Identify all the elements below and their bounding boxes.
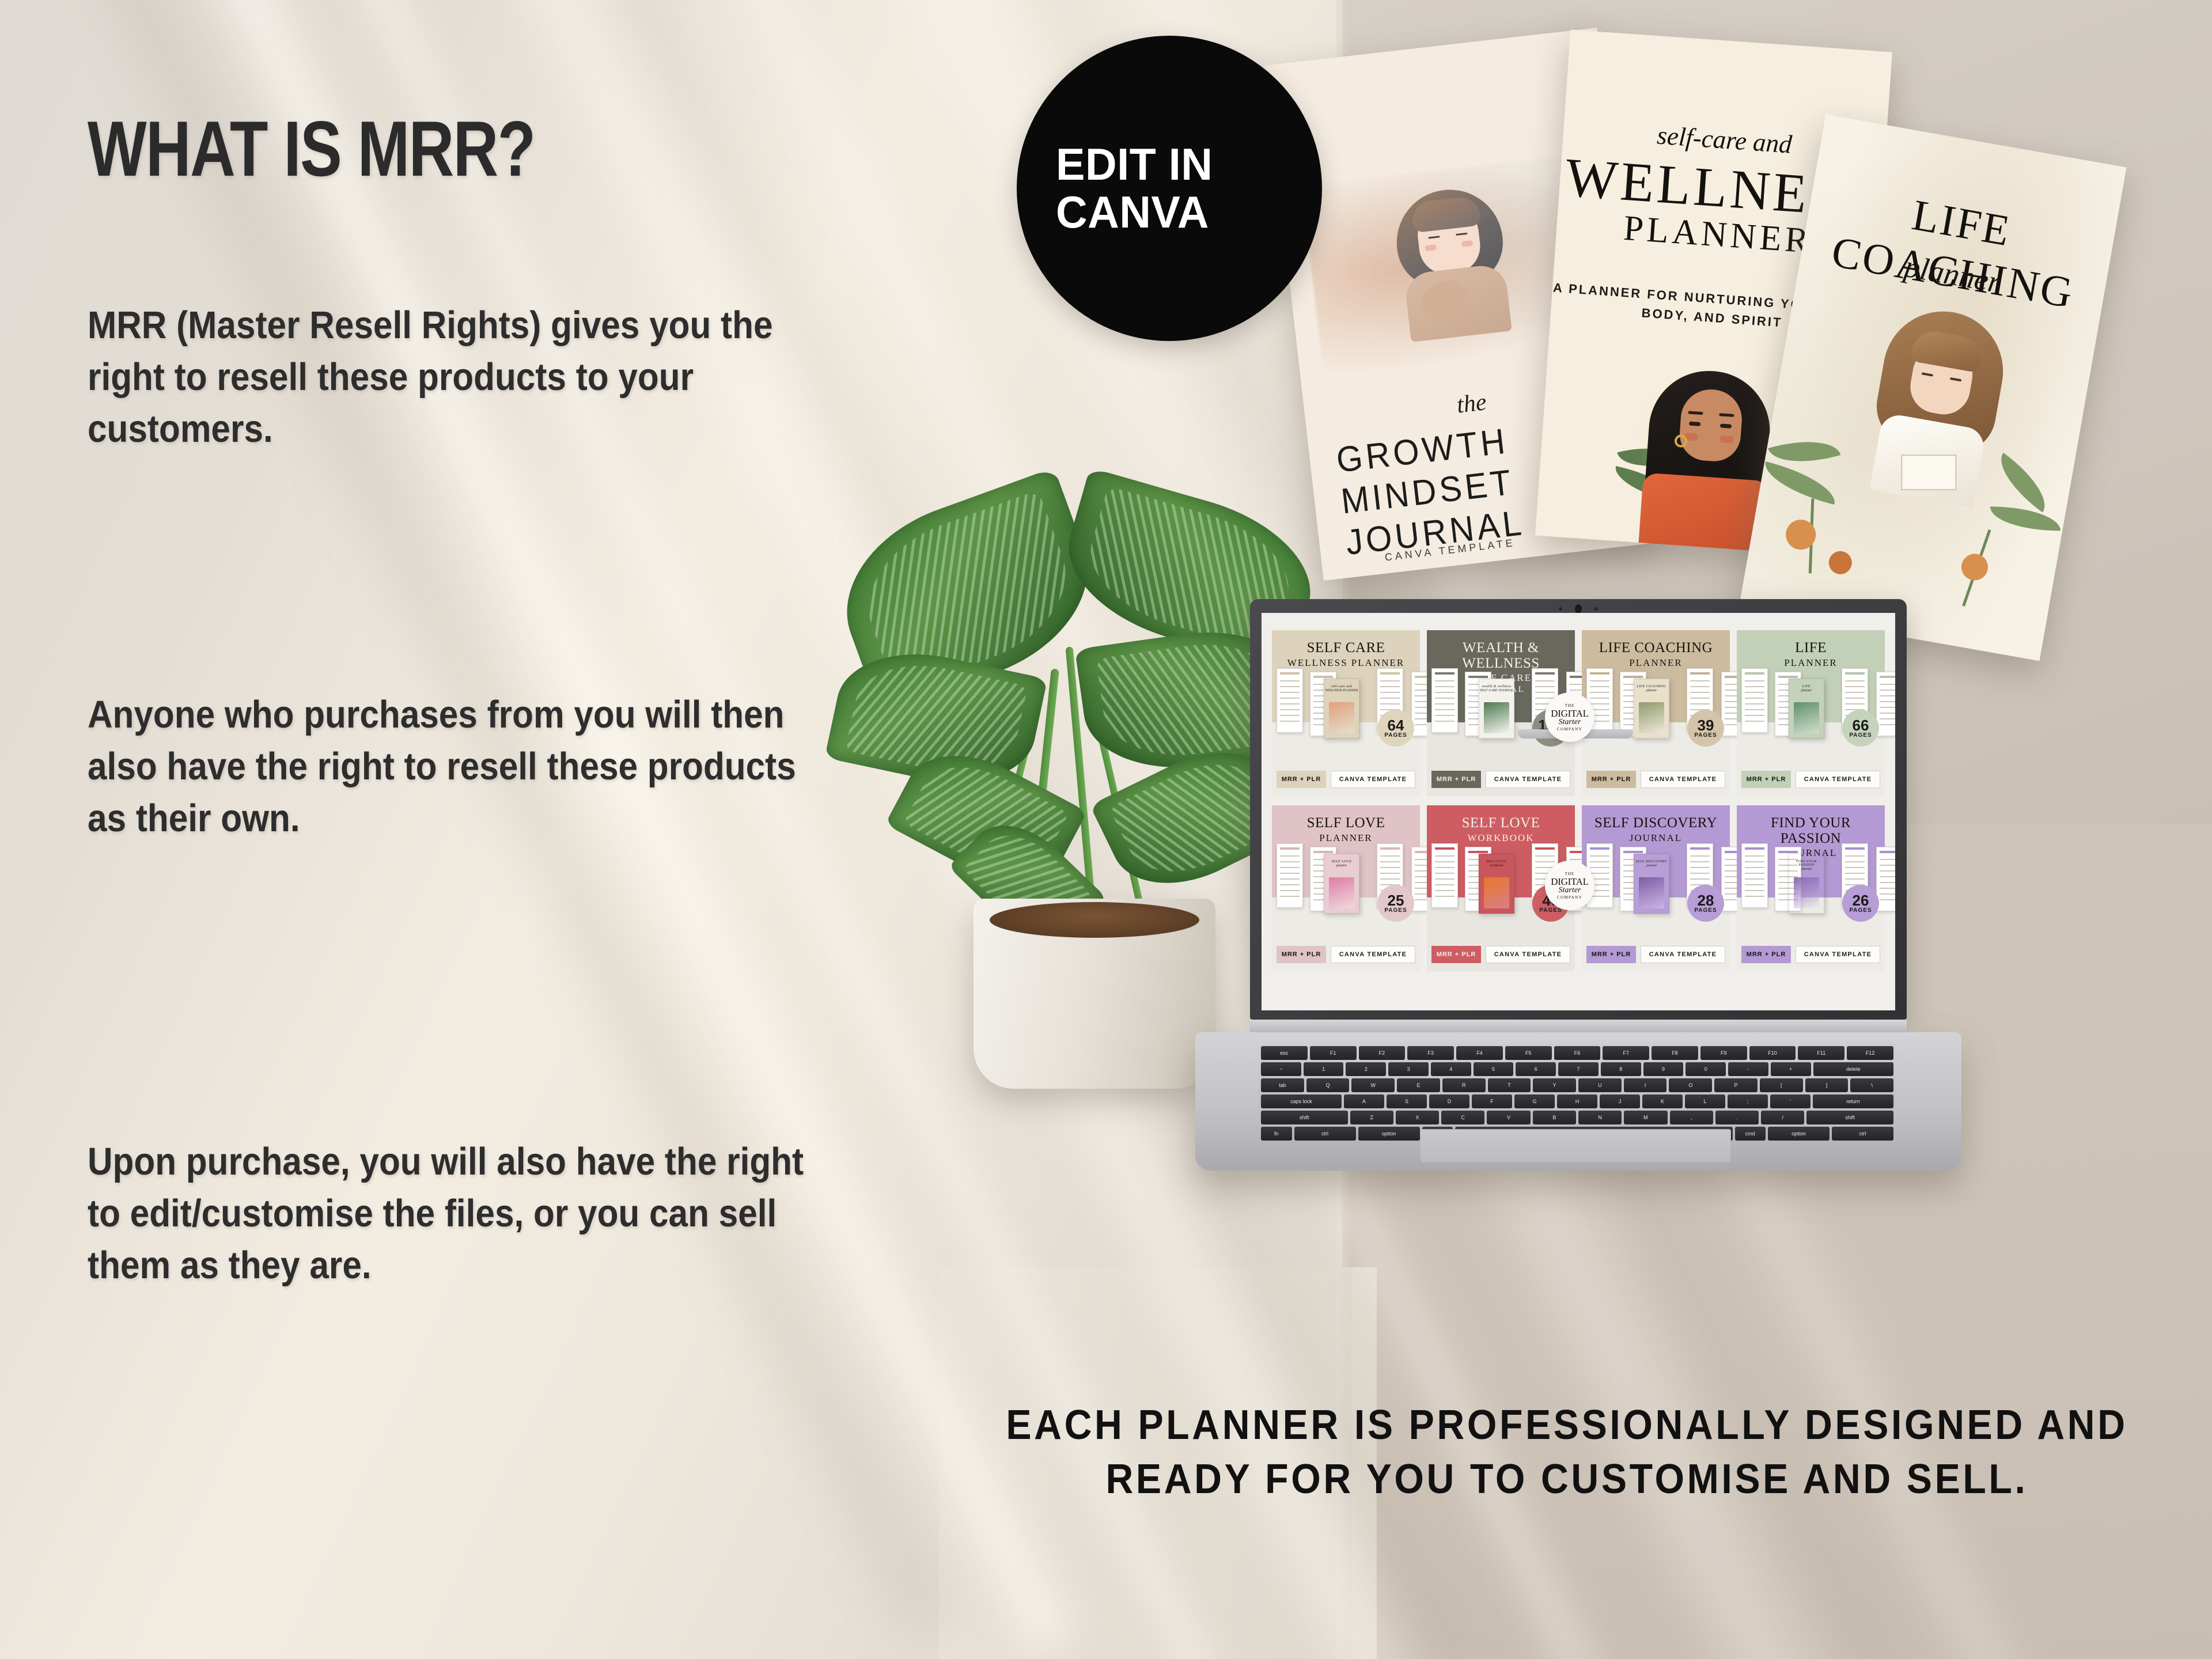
- key-f8[interactable]: F8: [1652, 1046, 1698, 1060]
- product-title: LIFE COACHING: [1586, 641, 1725, 656]
- key-a[interactable]: A: [1344, 1094, 1384, 1108]
- key-esc[interactable]: esc: [1261, 1046, 1308, 1060]
- laptop-lid: SELF CAREWELLNESS PLANNERself-care andWE…: [1250, 599, 1907, 1020]
- sensor-icon: [1559, 607, 1562, 611]
- logo-company: COMPANY: [1557, 895, 1582, 900]
- product-title: SELF CARE: [1277, 641, 1415, 656]
- edit-in-canva-badge[interactable]: EDIT IN CANVA: [1017, 36, 1322, 341]
- key--[interactable]: ~: [1261, 1062, 1301, 1076]
- product-mini-cover: SELF LOVEplanner: [1324, 854, 1359, 914]
- product-subtitle: WELLNESS PLANNER: [1277, 658, 1415, 669]
- key-f11[interactable]: F11: [1798, 1046, 1844, 1060]
- key-h[interactable]: H: [1557, 1094, 1597, 1108]
- mini-cover-sub: journal: [1646, 864, 1657, 868]
- badge-line-1: EDIT IN: [1056, 141, 1314, 188]
- key-x[interactable]: X: [1396, 1111, 1439, 1124]
- page-count-label: PAGES: [1694, 733, 1717, 738]
- mini-cover-image: [1484, 702, 1509, 733]
- tag-mrr-plr[interactable]: MRR + PLR: [1586, 946, 1636, 963]
- keyboard-row: ~1234567890-+delete: [1261, 1062, 1893, 1076]
- key-j[interactable]: J: [1600, 1094, 1640, 1108]
- key-n[interactable]: N: [1578, 1111, 1622, 1124]
- key-f7[interactable]: F7: [1603, 1046, 1649, 1060]
- keyboard-row: shiftZXCVBNM,./shift: [1261, 1111, 1893, 1124]
- key-return[interactable]: return: [1813, 1094, 1893, 1108]
- key-1[interactable]: 1: [1304, 1062, 1344, 1076]
- key-z[interactable]: Z: [1350, 1111, 1393, 1124]
- key-e[interactable]: E: [1397, 1078, 1440, 1092]
- mini-cover-title: SELF DISCOVERY: [1635, 860, 1667, 863]
- mini-cover-sub: planner: [1336, 864, 1347, 868]
- mini-cover-sub: planner: [1646, 689, 1657, 692]
- keyboard-row: caps lockASDFGHJKL;'return: [1261, 1094, 1893, 1108]
- body-paragraph-1: MRR (Master Resell Rights) gives you the…: [88, 300, 824, 454]
- tag-mrr-plr[interactable]: MRR + PLR: [1431, 946, 1481, 963]
- product-title: LIFE: [1741, 641, 1880, 656]
- page-thumbnail: [1431, 843, 1458, 908]
- mini-cover-image: [1794, 877, 1819, 908]
- mini-cover-image: [1794, 702, 1819, 733]
- page-count-value: 66: [1853, 718, 1869, 733]
- key--[interactable]: .: [1715, 1111, 1759, 1124]
- tag-canva-template[interactable]: CANVA TEMPLATE: [1486, 771, 1570, 788]
- laptop-keyboard[interactable]: escF1F2F3F4F5F6F7F8F9F10F11F12~123456789…: [1257, 1043, 1897, 1123]
- product-mini-cover: LIFEplanner: [1789, 679, 1824, 738]
- product-tags: MRR + PLRCANVA TEMPLATE: [1586, 771, 1725, 788]
- tag-canva-template[interactable]: CANVA TEMPLATE: [1796, 946, 1880, 963]
- key-o[interactable]: O: [1669, 1078, 1712, 1092]
- mini-cover-title: wealth & wellness: [1482, 685, 1511, 688]
- illustration-woman: [1842, 298, 2028, 513]
- product-title: SELF DISCOVERY: [1586, 816, 1725, 831]
- key-tab[interactable]: tab: [1261, 1078, 1304, 1092]
- product-tags: MRR + PLRCANVA TEMPLATE: [1277, 946, 1415, 963]
- logo-company: COMPANY: [1557, 727, 1582, 732]
- key-k[interactable]: K: [1642, 1094, 1683, 1108]
- page-thumbnail: [1741, 668, 1768, 733]
- page-count-label: PAGES: [1539, 908, 1562, 914]
- product-title: SELF LOVE: [1431, 816, 1570, 831]
- page-thumbnail: [1277, 843, 1303, 908]
- mini-cover-image: [1329, 702, 1354, 733]
- product-mini-cover: SELF LOVEworkbook: [1479, 854, 1514, 914]
- product-subtitle: WORKBOOK: [1431, 833, 1570, 844]
- key-f[interactable]: F: [1472, 1094, 1512, 1108]
- key-f6[interactable]: F6: [1554, 1046, 1601, 1060]
- key-caps-lock[interactable]: caps lock: [1261, 1094, 1342, 1108]
- mini-cover-sub: SELF-CARE JOURNAL: [1480, 689, 1513, 692]
- sensor-icon: [1594, 607, 1598, 611]
- key--[interactable]: /: [1761, 1111, 1804, 1124]
- key-ctrl[interactable]: ctrl: [1832, 1127, 1893, 1141]
- key-fn[interactable]: fn: [1261, 1127, 1292, 1141]
- tag-canva-template[interactable]: CANVA TEMPLATE: [1641, 946, 1725, 963]
- product-tags: MRR + PLRCANVA TEMPLATE: [1277, 771, 1415, 788]
- bottom-caption: EACH PLANNER IS PROFESSIONALLY DESIGNED …: [974, 1399, 2161, 1506]
- tag-mrr-plr[interactable]: MRR + PLR: [1277, 771, 1326, 788]
- product-subtitle: PLANNER: [1586, 658, 1725, 669]
- key-f9[interactable]: F9: [1700, 1046, 1747, 1060]
- page-count-label: PAGES: [1694, 908, 1717, 914]
- key--[interactable]: -: [1728, 1062, 1768, 1076]
- page-thumbnail: [1431, 668, 1458, 733]
- product-title: SELF LOVE: [1277, 816, 1415, 831]
- body-paragraph-3: Upon purchase, you will also have the ri…: [88, 1136, 824, 1291]
- product-card[interactable]: LIFE COACHINGPLANNERLIFE COACHINGplanner…: [1582, 630, 1730, 796]
- page-count-value: 28: [1698, 893, 1714, 908]
- key-ctrl[interactable]: ctrl: [1294, 1127, 1356, 1141]
- tag-mrr-plr[interactable]: MRR + PLR: [1741, 946, 1791, 963]
- product-mockup: LIFEplanner66PAGES: [1740, 668, 1881, 749]
- tag-mrr-plr[interactable]: MRR + PLR: [1741, 771, 1791, 788]
- key--[interactable]: [: [1760, 1078, 1803, 1092]
- key-b[interactable]: B: [1533, 1111, 1576, 1124]
- product-tags: MRR + PLRCANVA TEMPLATE: [1431, 771, 1570, 788]
- page-count-badge: 66PAGES: [1842, 710, 1879, 747]
- key-f1[interactable]: F1: [1310, 1046, 1357, 1060]
- product-mini-cover: LIFE COACHINGplanner: [1634, 679, 1669, 738]
- mini-cover-sub: planner: [1801, 689, 1812, 692]
- webcam-icon: [1575, 604, 1582, 613]
- page-thumbnail: [1741, 843, 1768, 908]
- page-count-label: PAGES: [1849, 733, 1872, 738]
- product-title: WEALTH & WELLNESS: [1431, 641, 1570, 671]
- laptop-base: escF1F2F3F4F5F6F7F8F9F10F11F12~123456789…: [1195, 1032, 1961, 1171]
- page-count-badge: 28PAGES: [1687, 885, 1724, 922]
- key-cmd[interactable]: cmd: [1735, 1127, 1766, 1141]
- mini-cover-sub: workbook: [1490, 864, 1503, 868]
- key-option[interactable]: option: [1768, 1127, 1830, 1141]
- laptop-screen: SELF CAREWELLNESS PLANNERself-care andWE…: [1262, 613, 1895, 1010]
- key--[interactable]: \: [1850, 1078, 1893, 1092]
- product-mockup: self-care andWELLNESS PLANNER64PAGES: [1275, 668, 1416, 749]
- product-title: FIND YOUR PASSION: [1741, 816, 1880, 846]
- plant-soil: [990, 902, 1199, 938]
- key-r[interactable]: R: [1442, 1078, 1486, 1092]
- key-5[interactable]: 5: [1474, 1062, 1514, 1076]
- product-card[interactable]: SELF DISCOVERYJOURNALSELF DISCOVERYjourn…: [1582, 805, 1730, 971]
- page-thumbnail: [1277, 668, 1303, 733]
- key--[interactable]: ': [1770, 1094, 1810, 1108]
- key-4[interactable]: 4: [1431, 1062, 1471, 1076]
- key-w[interactable]: W: [1351, 1078, 1395, 1092]
- key-i[interactable]: I: [1624, 1078, 1667, 1092]
- page-count-badge: 64PAGES: [1377, 710, 1414, 747]
- page-count-value: 39: [1698, 718, 1714, 733]
- badge-line-2: CANVA: [1056, 188, 1314, 236]
- laptop-trackpad[interactable]: [1420, 1129, 1731, 1162]
- key-c[interactable]: C: [1441, 1111, 1484, 1124]
- key-f4[interactable]: F4: [1456, 1046, 1503, 1060]
- mini-cover-sub: journal: [1801, 868, 1812, 871]
- product-mini-cover: self-care andWELLNESS PLANNER: [1324, 679, 1359, 738]
- key--[interactable]: ,: [1670, 1111, 1713, 1124]
- keyboard-row: escF1F2F3F4F5F6F7F8F9F10F11F12: [1261, 1046, 1893, 1060]
- page-count-badge: 39PAGES: [1687, 710, 1724, 747]
- logo-the: THE: [1565, 703, 1575, 708]
- logo-starter: Starter: [1559, 886, 1581, 895]
- key-m[interactable]: M: [1624, 1111, 1667, 1124]
- tag-canva-template[interactable]: CANVA TEMPLATE: [1331, 946, 1415, 963]
- key-l[interactable]: L: [1685, 1094, 1725, 1108]
- mini-cover-title: LIFE: [1802, 685, 1810, 688]
- page-count-label: PAGES: [1849, 908, 1872, 914]
- key-v[interactable]: V: [1487, 1111, 1530, 1124]
- page-count-value: 64: [1388, 718, 1404, 733]
- tag-mrr-plr[interactable]: MRR + PLR: [1431, 771, 1481, 788]
- brand-logo-medallion: THE DIGITAL Starter COMPANY: [1545, 861, 1594, 910]
- mini-cover-title: FIND YOUR PASSION: [1789, 860, 1824, 867]
- tag-canva-template[interactable]: CANVA TEMPLATE: [1331, 771, 1415, 788]
- mini-cover-image: [1329, 877, 1354, 908]
- key-t[interactable]: T: [1488, 1078, 1531, 1092]
- product-tags: MRR + PLRCANVA TEMPLATE: [1431, 946, 1570, 963]
- product-subtitle: PLANNER: [1741, 658, 1880, 669]
- laptop-mockup: SELF CAREWELLNESS PLANNERself-care andWE…: [1195, 599, 1961, 1279]
- key-7[interactable]: 7: [1558, 1062, 1599, 1076]
- mini-cover-sub: WELLNESS PLANNER: [1325, 689, 1358, 692]
- product-tags: MRR + PLRCANVA TEMPLATE: [1741, 946, 1880, 963]
- product-mockup: SELF DISCOVERYjournal28PAGES: [1585, 843, 1726, 924]
- product-tags: MRR + PLRCANVA TEMPLATE: [1586, 946, 1725, 963]
- key-8[interactable]: 8: [1601, 1062, 1641, 1076]
- key-u[interactable]: U: [1578, 1078, 1622, 1092]
- keyboard-row: tabQWERTYUIOP[]\: [1261, 1078, 1893, 1092]
- key-g[interactable]: G: [1514, 1094, 1555, 1108]
- product-card[interactable]: FIND YOUR PASSIONJOURNALFIND YOUR PASSIO…: [1737, 805, 1885, 971]
- page-count-value: 26: [1853, 893, 1869, 908]
- key-shift[interactable]: shift: [1261, 1111, 1348, 1124]
- key-s[interactable]: S: [1387, 1094, 1427, 1108]
- key-d[interactable]: D: [1429, 1094, 1469, 1108]
- page-count-label: PAGES: [1384, 908, 1407, 914]
- key--[interactable]: +: [1771, 1062, 1811, 1076]
- key-delete[interactable]: delete: [1813, 1062, 1893, 1076]
- product-mockup: SELF LOVEplanner25PAGES: [1275, 843, 1416, 924]
- product-tags: MRR + PLRCANVA TEMPLATE: [1741, 771, 1880, 788]
- product-card[interactable]: SELF CAREWELLNESS PLANNERself-care andWE…: [1272, 630, 1420, 796]
- page-count-value: 25: [1388, 893, 1404, 908]
- key-f3[interactable]: F3: [1407, 1046, 1454, 1060]
- logo-the: THE: [1565, 872, 1575, 876]
- key-3[interactable]: 3: [1388, 1062, 1429, 1076]
- mini-cover-title: LIFE COACHING: [1637, 685, 1666, 688]
- key-y[interactable]: Y: [1533, 1078, 1576, 1092]
- key-option[interactable]: option: [1358, 1127, 1420, 1141]
- mini-cover-title: SELF LOVE: [1486, 860, 1506, 863]
- key--[interactable]: ;: [1728, 1094, 1768, 1108]
- product-card[interactable]: LIFEPLANNERLIFEplanner66PAGESMRR + PLRCA…: [1737, 630, 1885, 796]
- page-count-badge: 25PAGES: [1377, 885, 1414, 922]
- product-mockup: FIND YOUR PASSIONjournal26PAGES: [1740, 843, 1881, 924]
- key-q[interactable]: Q: [1306, 1078, 1350, 1092]
- key-9[interactable]: 9: [1643, 1062, 1684, 1076]
- tag-canva-template[interactable]: CANVA TEMPLATE: [1641, 771, 1725, 788]
- key-0[interactable]: 0: [1685, 1062, 1726, 1076]
- product-card[interactable]: SELF LOVEPLANNERSELF LOVEplanner25PAGESM…: [1272, 805, 1420, 971]
- mini-cover-title: SELF LOVE: [1331, 860, 1351, 863]
- product-mini-cover: SELF DISCOVERYjournal: [1634, 854, 1669, 914]
- key-p[interactable]: P: [1714, 1078, 1758, 1092]
- key-f5[interactable]: F5: [1505, 1046, 1552, 1060]
- mini-cover-image: [1484, 877, 1509, 908]
- product-subtitle: JOURNAL: [1586, 833, 1725, 844]
- page-count-label: PAGES: [1384, 733, 1407, 738]
- page-count-badge: 26PAGES: [1842, 885, 1879, 922]
- product-subtitle: PLANNER: [1277, 833, 1415, 844]
- illustration-woman: [1388, 184, 1516, 340]
- key--[interactable]: ]: [1805, 1078, 1849, 1092]
- mini-cover-image: [1639, 702, 1664, 733]
- mini-cover-title: self-care and: [1331, 685, 1352, 688]
- mini-cover-image: [1639, 877, 1664, 908]
- tag-mrr-plr[interactable]: MRR + PLR: [1586, 771, 1636, 788]
- product-mini-cover: wealth & wellnessSELF-CARE JOURNAL: [1479, 679, 1514, 738]
- tag-mrr-plr[interactable]: MRR + PLR: [1277, 946, 1326, 963]
- tag-canva-template[interactable]: CANVA TEMPLATE: [1486, 946, 1570, 963]
- body-paragraph-2: Anyone who purchases from you will then …: [88, 689, 824, 844]
- key-f12[interactable]: F12: [1847, 1046, 1893, 1060]
- key-6[interactable]: 6: [1516, 1062, 1556, 1076]
- page-title: WHAT IS MRR?: [88, 109, 535, 188]
- key-f2[interactable]: F2: [1359, 1046, 1406, 1060]
- key-f10[interactable]: F10: [1749, 1046, 1796, 1060]
- product-mini-cover: FIND YOUR PASSIONjournal: [1789, 854, 1824, 914]
- logo-starter: Starter: [1559, 718, 1581, 727]
- key-2[interactable]: 2: [1346, 1062, 1386, 1076]
- brand-logo-medallion: THE DIGITAL Starter COMPANY: [1545, 692, 1594, 742]
- key-shift[interactable]: shift: [1806, 1111, 1893, 1124]
- tag-canva-template[interactable]: CANVA TEMPLATE: [1796, 771, 1880, 788]
